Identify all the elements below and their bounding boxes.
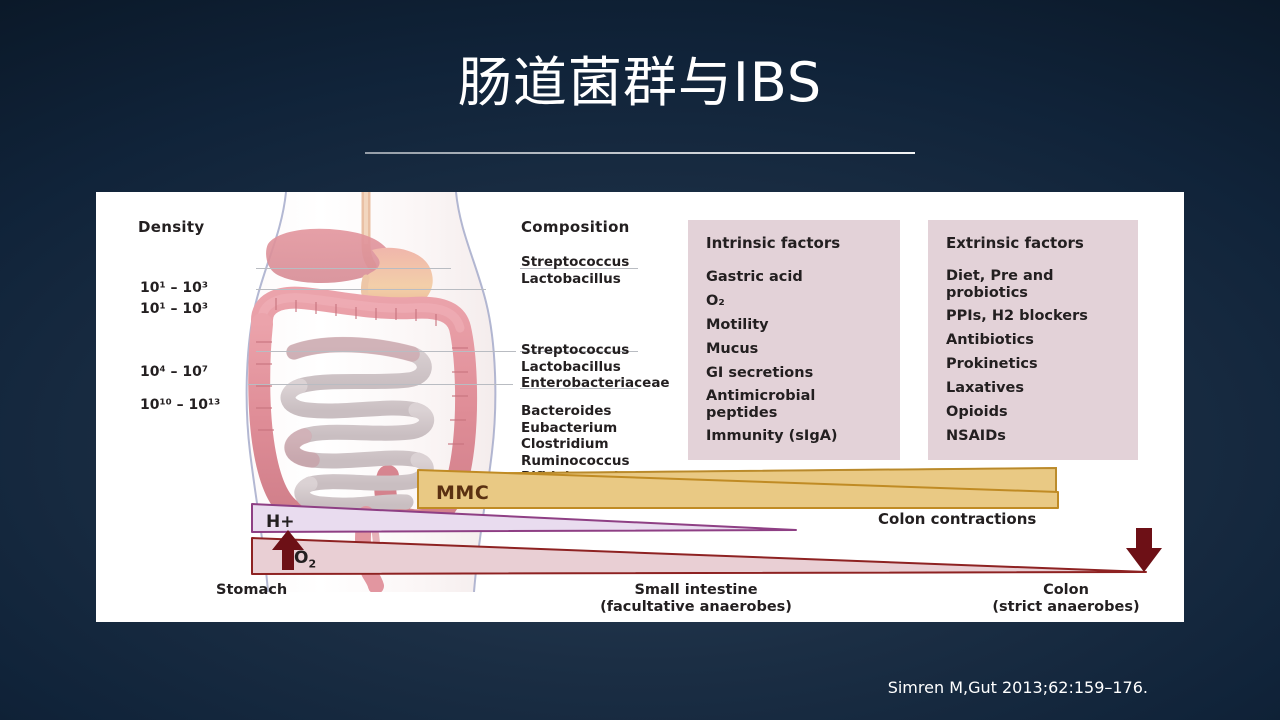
composition-item: Eubacterium bbox=[521, 420, 642, 437]
density-value: 10¹ – 10³ bbox=[140, 280, 208, 296]
composition-item: Streptococcus bbox=[521, 342, 670, 359]
intrinsic-factor-item: Mucus bbox=[706, 340, 884, 359]
gradient-diagram: MMC H+ O2 Colon contractions Stomach Sma… bbox=[96, 464, 1184, 622]
figure-panel: Density 10¹ – 10³ 10¹ – 10³ 10⁴ – 10⁷ 10… bbox=[96, 192, 1184, 622]
intrinsic-factors-heading: Intrinsic factors bbox=[706, 234, 884, 252]
axis-label-line: Colon bbox=[936, 582, 1184, 599]
citation-text: Simren M,Gut 2013;62:159–176. bbox=[0, 678, 1148, 697]
extrinsic-factor-item: Diet, Pre and probiotics bbox=[946, 268, 1122, 302]
composition-item: Bacteroides bbox=[521, 403, 642, 420]
composition-item: Lactobacillus bbox=[521, 271, 629, 288]
composition-item: Clostridium bbox=[521, 436, 642, 453]
hplus-label: H+ bbox=[266, 512, 294, 532]
leader-line bbox=[256, 351, 516, 352]
axis-label-colon: Colon (strict anaerobes) bbox=[936, 582, 1184, 616]
composition-item: Enterobacteriaceae bbox=[521, 375, 670, 392]
extrinsic-factor-item: Opioids bbox=[946, 403, 1122, 422]
axis-label-stomach: Stomach bbox=[216, 582, 336, 599]
extrinsic-factors-heading: Extrinsic factors bbox=[946, 234, 1122, 252]
axis-label-line: (strict anaerobes) bbox=[936, 599, 1184, 616]
page-title: 肠道菌群与IBS bbox=[0, 52, 1280, 114]
density-value: 10⁴ – 10⁷ bbox=[140, 364, 208, 380]
composition-column: Composition Streptococcus Lactobacillus … bbox=[521, 218, 711, 254]
slide-canvas: 肠道菌群与IBS bbox=[0, 0, 1280, 720]
intrinsic-factor-item: Immunity (sIgA) bbox=[706, 427, 884, 446]
extrinsic-factors-box: Extrinsic factors Diet, Pre and probioti… bbox=[928, 220, 1138, 460]
mmc-label: MMC bbox=[436, 482, 489, 504]
extrinsic-factor-item: Laxatives bbox=[946, 379, 1122, 398]
composition-group: Streptococcus Lactobacillus bbox=[521, 254, 629, 287]
density-value: 10¹ – 10³ bbox=[140, 301, 208, 317]
intrinsic-factor-item: Motility bbox=[706, 316, 884, 335]
extrinsic-factor-item: NSAIDs bbox=[946, 427, 1122, 446]
extrinsic-factor-item: Antibiotics bbox=[946, 331, 1122, 350]
density-value: 10¹⁰ – 10¹³ bbox=[140, 397, 220, 413]
intrinsic-factor-item: Antimicrobial peptides bbox=[706, 388, 884, 422]
intrinsic-factors-box: Intrinsic factors Gastric acid O₂ Motili… bbox=[688, 220, 900, 460]
axis-label-line: (facultative anaerobes) bbox=[556, 599, 836, 616]
title-divider bbox=[365, 152, 915, 154]
axis-label-line: Small intestine bbox=[556, 582, 836, 599]
intrinsic-factor-item: Gastric acid bbox=[706, 268, 884, 287]
leader-line bbox=[256, 268, 451, 269]
extrinsic-factor-item: PPIs, H2 blockers bbox=[946, 307, 1122, 326]
title-block: 肠道菌群与IBS bbox=[0, 52, 1280, 114]
composition-item: Lactobacillus bbox=[521, 359, 670, 376]
composition-group: Streptococcus Lactobacillus Enterobacter… bbox=[521, 342, 670, 392]
colon-contractions-label: Colon contractions bbox=[878, 510, 1036, 528]
leader-line bbox=[248, 384, 513, 385]
composition-heading: Composition bbox=[521, 218, 711, 236]
leader-line bbox=[256, 289, 486, 290]
axis-label-small-intestine: Small intestine (facultative anaerobes) bbox=[556, 582, 836, 616]
intrinsic-factor-item: O₂ bbox=[706, 292, 884, 311]
density-column: Density 10¹ – 10³ 10¹ – 10³ 10⁴ – 10⁷ 10… bbox=[138, 218, 303, 236]
intrinsic-factor-item: GI secretions bbox=[706, 364, 884, 383]
o2-label: O2 bbox=[294, 548, 316, 570]
composition-item: Streptococcus bbox=[521, 254, 629, 271]
extrinsic-factor-item: Prokinetics bbox=[946, 355, 1122, 374]
density-heading: Density bbox=[138, 218, 303, 236]
